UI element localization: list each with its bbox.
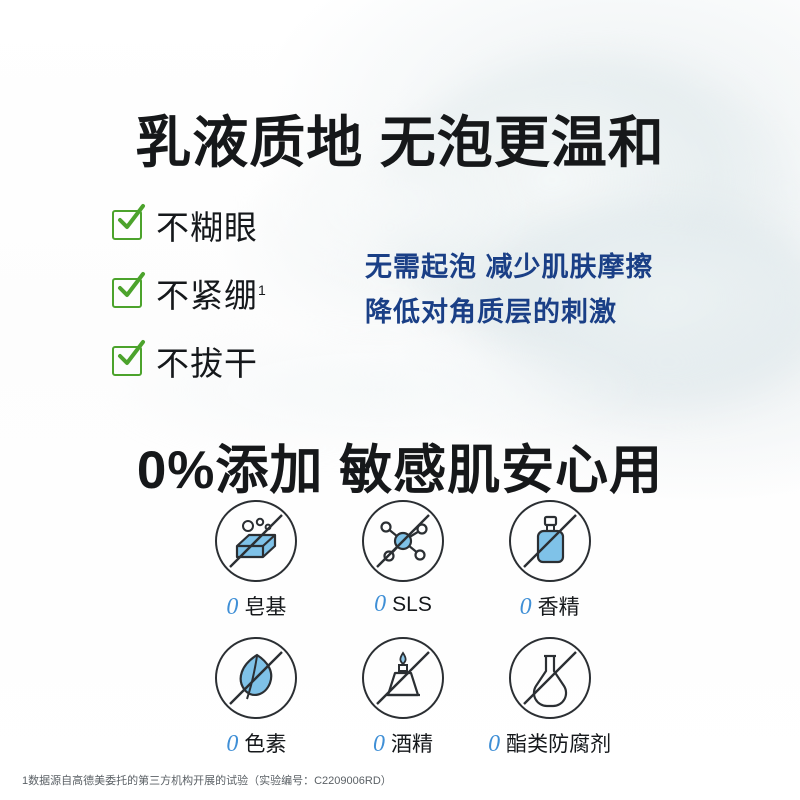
perfume-bottle-icon	[509, 500, 591, 582]
check-mark-icon	[116, 339, 146, 369]
free-from-label: 色素	[244, 728, 286, 758]
free-from-caption: 0 酒精	[373, 728, 433, 758]
checklist-label: 不拔干	[156, 337, 258, 385]
leaf-dye-icon	[215, 637, 297, 719]
free-from-caption: 0 皂基	[226, 591, 286, 621]
checklist-label: 不糊眼	[156, 201, 258, 249]
checklist-sup: 1	[258, 282, 267, 298]
free-from-caption: 0 SLS	[374, 591, 432, 618]
perfume-bottle-glyph	[511, 502, 589, 580]
list-item: 不拔干	[112, 333, 342, 388]
free-from-label: 香精	[538, 591, 580, 621]
free-from-caption: 0 香精	[520, 591, 580, 621]
headline-secondary: 0%添加 敏感肌安心用	[0, 428, 800, 504]
benefit-description-line-2: 降低对角质层的刺激	[365, 290, 654, 335]
free-from-item-fragrance: 0 香精	[476, 500, 623, 621]
flask-icon	[509, 637, 591, 719]
free-from-item-soap: 0 皂基	[183, 500, 330, 621]
free-from-item-alcohol: 0 酒精	[330, 637, 477, 758]
checkbox-checked-icon	[112, 278, 142, 308]
benefits-checklist: 不糊眼 不紧绷1 不拔干	[112, 197, 342, 401]
zero-marker: 0	[488, 731, 500, 758]
soap-bar-icon	[215, 500, 297, 582]
free-from-icon-grid: 0 皂基 0 SL	[183, 500, 623, 758]
leaf-dye-glyph	[217, 639, 295, 717]
molecule-glyph	[364, 502, 442, 580]
list-item: 不糊眼	[112, 197, 342, 252]
free-from-label: 皂基	[244, 591, 286, 621]
alcohol-burner-glyph	[364, 639, 442, 717]
free-from-label: SLS	[392, 593, 432, 617]
free-from-item-colorant: 0 色素	[183, 637, 330, 758]
checkbox-checked-icon	[112, 210, 142, 240]
zero-marker: 0	[373, 731, 385, 758]
free-from-item-paraben: 0 酯类防腐剂	[476, 637, 623, 758]
zero-marker: 0	[226, 731, 238, 758]
molecule-icon	[362, 500, 444, 582]
alcohol-burner-icon	[362, 637, 444, 719]
zero-marker: 0	[520, 594, 532, 621]
check-mark-icon	[116, 271, 146, 301]
free-from-caption: 0 酯类防腐剂	[488, 728, 611, 758]
flask-glyph	[511, 639, 589, 717]
checklist-text: 不拔干	[156, 345, 258, 382]
headline-primary: 乳液质地 无泡更温和	[0, 98, 800, 179]
checklist-text: 不糊眼	[156, 209, 258, 246]
footnote: 1数据源自高德美委托的第三方机构开展的试验（实验编号：C2209006RD）	[22, 772, 392, 788]
free-from-item-sls: 0 SLS	[330, 500, 477, 621]
soap-bar-glyph	[217, 502, 295, 580]
checklist-label: 不紧绷1	[156, 269, 267, 317]
zero-marker: 0	[226, 594, 238, 621]
free-from-caption: 0 色素	[226, 728, 286, 758]
free-from-label: 酒精	[391, 728, 433, 758]
checkbox-checked-icon	[112, 346, 142, 376]
benefit-description-line-1: 无需起泡 减少肌肤摩擦	[365, 245, 654, 290]
list-item: 不紧绷1	[112, 265, 342, 320]
checklist-text: 不紧绷	[156, 277, 258, 314]
product-info-page: 乳液质地 无泡更温和 不糊眼 不紧绷1	[0, 0, 800, 800]
free-from-label: 酯类防腐剂	[506, 728, 611, 758]
zero-marker: 0	[374, 591, 386, 618]
benefit-description: 无需起泡 减少肌肤摩擦 降低对角质层的刺激	[365, 245, 654, 335]
check-mark-icon	[116, 203, 146, 233]
